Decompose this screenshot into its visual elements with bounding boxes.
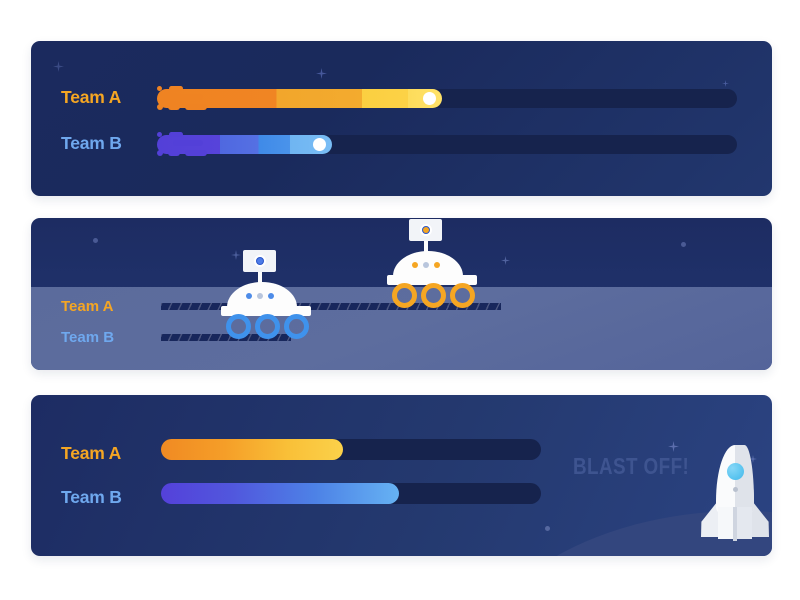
progress-knob-icon[interactable] bbox=[423, 92, 436, 105]
blastoff-callout: BLAST OFF! bbox=[573, 453, 689, 480]
progress-track-team-b[interactable] bbox=[157, 135, 737, 154]
progress-track-team-a[interactable] bbox=[161, 439, 541, 460]
screenshot-stage: Team A Team B bbox=[0, 0, 800, 600]
progress-row-team-b: Team B bbox=[61, 133, 122, 154]
rover-blue-icon[interactable] bbox=[213, 246, 323, 346]
star-dot-icon bbox=[93, 238, 98, 243]
sparkle-star-icon bbox=[501, 256, 510, 265]
star-dot-icon bbox=[681, 242, 686, 247]
progress-fill-team-a bbox=[161, 439, 343, 460]
rover-race-panel: Team A Team B bbox=[31, 218, 772, 370]
progress-row-team-a: Team A bbox=[61, 87, 121, 108]
comet-trail-blue bbox=[157, 127, 227, 157]
progress-knob-icon[interactable] bbox=[313, 138, 326, 151]
team-b-label: Team B bbox=[61, 487, 122, 508]
comet-trail-orange bbox=[157, 81, 227, 111]
sparkle-star-icon bbox=[722, 80, 729, 87]
team-a-label: Team A bbox=[61, 443, 121, 464]
team-a-label: Team A bbox=[61, 298, 114, 315]
progress-fill-team-b bbox=[161, 483, 399, 504]
team-b-label: Team B bbox=[61, 329, 114, 346]
blastoff-progress-panel: Team A Team B BLAST OFF! bbox=[31, 395, 772, 556]
sparkle-star-icon bbox=[316, 68, 327, 79]
sparkle-star-icon bbox=[53, 61, 64, 72]
progress-track-team-b[interactable] bbox=[161, 483, 541, 504]
team-a-label: Team A bbox=[61, 87, 121, 108]
sparkle-star-icon bbox=[668, 441, 679, 452]
rover-orange-icon[interactable] bbox=[379, 218, 489, 315]
rocket-icon[interactable] bbox=[686, 445, 772, 555]
comet-progress-panel: Team A Team B bbox=[31, 41, 772, 196]
progress-track-team-a[interactable] bbox=[157, 89, 737, 108]
star-dot-icon bbox=[545, 526, 550, 531]
team-b-label: Team B bbox=[61, 133, 122, 154]
